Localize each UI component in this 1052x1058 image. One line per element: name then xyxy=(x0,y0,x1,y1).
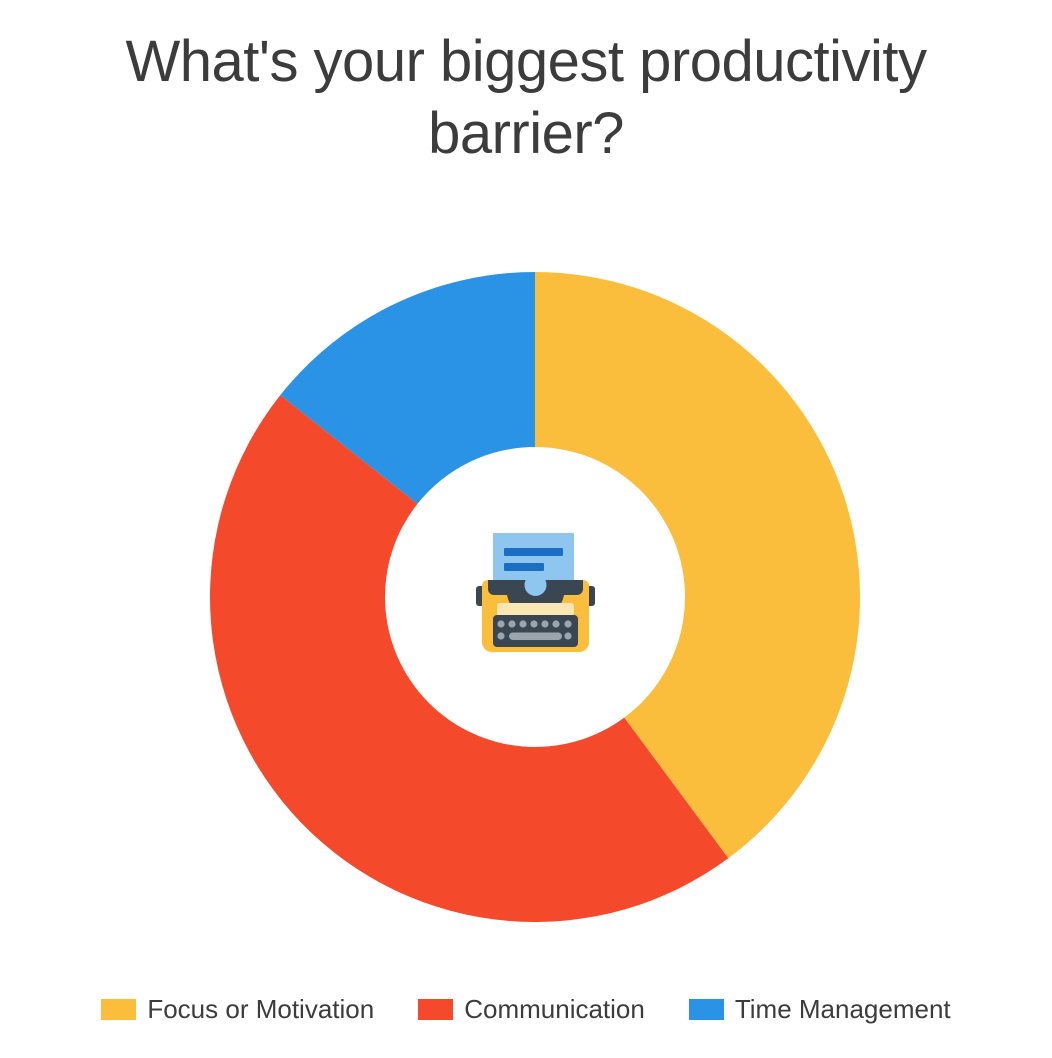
legend-label: Focus or Motivation xyxy=(147,994,374,1024)
legend-swatch xyxy=(101,999,136,1020)
typewriter-spacebar xyxy=(509,633,562,641)
legend-label: Communication xyxy=(464,994,645,1024)
typewriter-roller xyxy=(525,574,547,596)
typewriter-paper-line-2 xyxy=(504,563,544,571)
typewriter-paper-line-1 xyxy=(504,548,563,556)
legend-swatch xyxy=(689,999,724,1020)
legend-item[interactable]: Time Management xyxy=(689,994,951,1024)
legend-swatch xyxy=(418,999,453,1020)
typewriter-keyboard-plate xyxy=(493,615,578,647)
chart-canvas: What's your biggest productivity barrier… xyxy=(0,0,1052,1058)
typewriter-icon-graphic xyxy=(475,528,596,658)
typewriter-icon xyxy=(475,528,596,658)
chart-title: What's your biggest productivity barrier… xyxy=(0,26,1052,170)
legend-item[interactable]: Communication xyxy=(418,994,645,1024)
legend-item[interactable]: Focus or Motivation xyxy=(101,994,374,1024)
legend-label: Time Management xyxy=(735,994,951,1024)
chart-legend: Focus or MotivationCommunicationTime Man… xyxy=(0,994,1052,1024)
typewriter-paper-strip xyxy=(497,603,574,616)
